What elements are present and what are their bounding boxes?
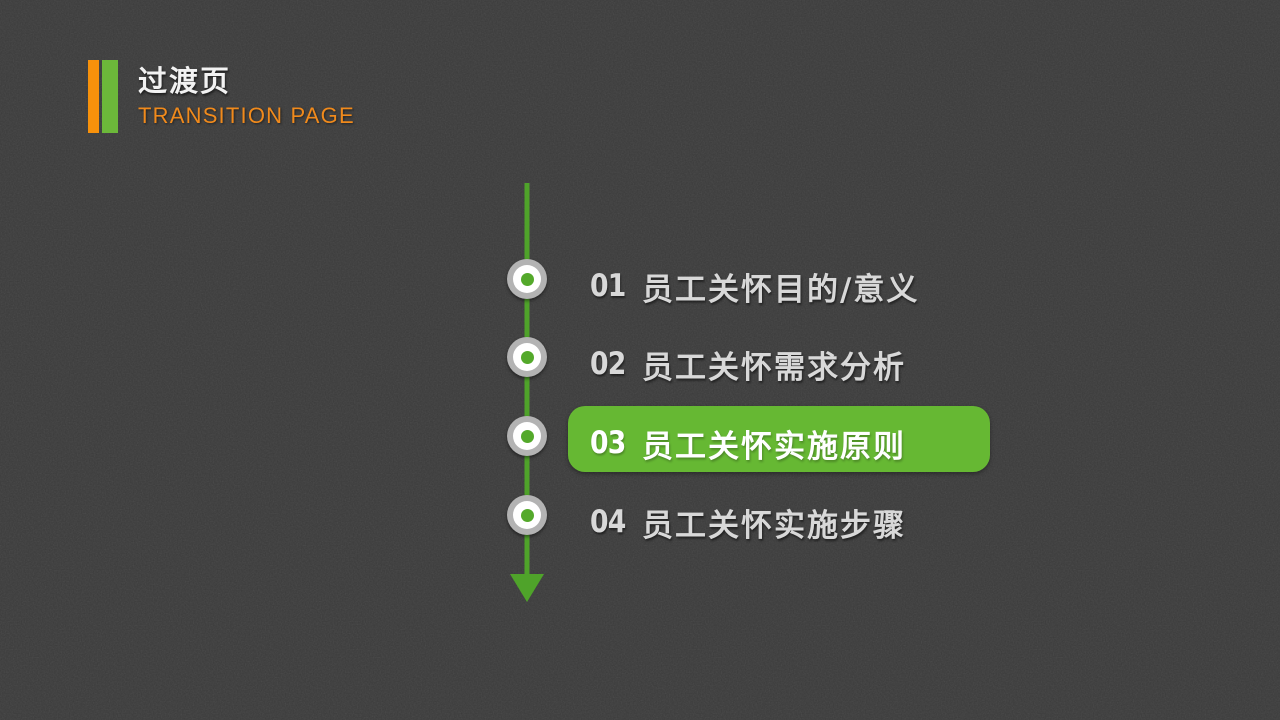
agenda-item-number: 02: [590, 346, 635, 382]
agenda-item-number: 03: [590, 425, 635, 461]
marker-dot: [521, 351, 534, 364]
agenda-item-01[interactable]: 01 员工关怀目的/意义: [590, 262, 919, 310]
marker-dot: [521, 509, 534, 522]
agenda-item-number: 04: [590, 504, 635, 540]
timeline-marker-04[interactable]: [507, 495, 547, 535]
marker-inner-ring: [513, 265, 541, 293]
agenda-item-number: 01: [590, 268, 635, 304]
timeline-marker-02[interactable]: [507, 337, 547, 377]
agenda-item-03[interactable]: 03 员工关怀实施原则: [590, 419, 906, 467]
down-arrow-icon: [510, 574, 544, 602]
marker-dot: [521, 430, 534, 443]
agenda-item-label: 员工关怀实施步骤: [642, 500, 906, 545]
slide-canvas: 过渡页 TRANSITION PAGE 01 员工关怀目的/意义 02: [0, 0, 1280, 720]
agenda-item-label: 员工关怀需求分析: [642, 342, 906, 387]
marker-dot: [521, 273, 534, 286]
agenda-item-label: 员工关怀实施原则: [642, 421, 906, 466]
agenda-item-02[interactable]: 02 员工关怀需求分析: [590, 340, 906, 388]
marker-inner-ring: [513, 501, 541, 529]
marker-inner-ring: [513, 422, 541, 450]
agenda-item-label: 员工关怀目的/意义: [642, 264, 919, 309]
timeline-marker-03[interactable]: [507, 416, 547, 456]
timeline-marker-01[interactable]: [507, 259, 547, 299]
agenda-item-04[interactable]: 04 员工关怀实施步骤: [590, 498, 906, 546]
marker-inner-ring: [513, 343, 541, 371]
